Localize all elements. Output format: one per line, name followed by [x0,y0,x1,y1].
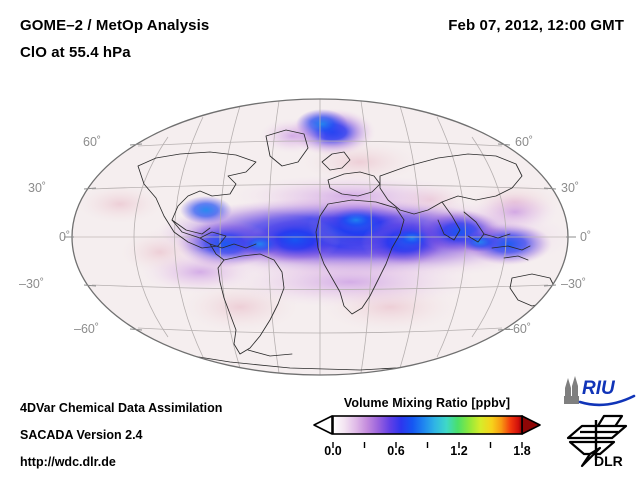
lat-label-left-m30: –30˚ [19,277,44,291]
map-canvas [60,92,580,382]
riu-logo-graphic: RIU [560,374,636,408]
lat-label-right-0: 0˚ [580,230,591,244]
colorbar: Volume Mixing Ratio [ppbv] 0.00.61.21.8 [312,396,542,460]
datetime-label: Feb 07, 2012, 12:00 GMT [448,17,624,34]
species-subtitle: ClO at 55.4 hPa [20,44,131,61]
colorbar-tick-3: 1.8 [513,444,530,458]
colorbar-max-arrow [522,416,540,434]
dlr-logo-graphic: DLR [566,414,634,468]
lat-label-right-m30: –30˚ [561,277,586,291]
lat-label-left-30: 30˚ [28,181,46,195]
riu-wordmark: RIU [582,378,616,399]
lat-label-right-60: 60˚ [515,135,533,149]
lat-label-left-60: 60˚ [83,135,101,149]
lat-label-left-0: 0˚ [59,230,70,244]
riu-logo: RIU [560,374,636,413]
colorbar-tick-labels: 0.00.61.21.8 [312,444,542,460]
colorbar-gradient [312,414,542,438]
footer-line-url: http://wdc.dlr.de [20,455,116,469]
dlr-logo: DLR [566,414,634,473]
colorbar-min-arrow [314,416,332,434]
footer-line-version: SACADA Version 2.4 [20,428,143,442]
colorbar-tick-2: 1.2 [450,444,467,458]
analysis-title: GOME–2 / MetOp Analysis [20,17,209,34]
footer-line-assimilation: 4DVar Chemical Data Assimilation [20,401,222,415]
colorbar-tick-0: 0.0 [324,444,341,458]
colorbar-tick-1: 0.6 [387,444,404,458]
lat-label-left-m60: –60˚ [74,322,99,336]
cathedral-icon [564,376,579,404]
lat-label-right-30: 30˚ [561,181,579,195]
world-map: 0˚ 30˚ –30˚ 60˚ –60˚ 0˚ 30˚ –30˚ 60˚ –60… [60,92,580,382]
colorbar-title: Volume Mixing Ratio [ppbv] [312,396,542,410]
lat-label-right-m60: –60˚ [506,322,531,336]
colorbar-body [333,416,522,434]
dlr-wordmark: DLR [594,453,623,468]
